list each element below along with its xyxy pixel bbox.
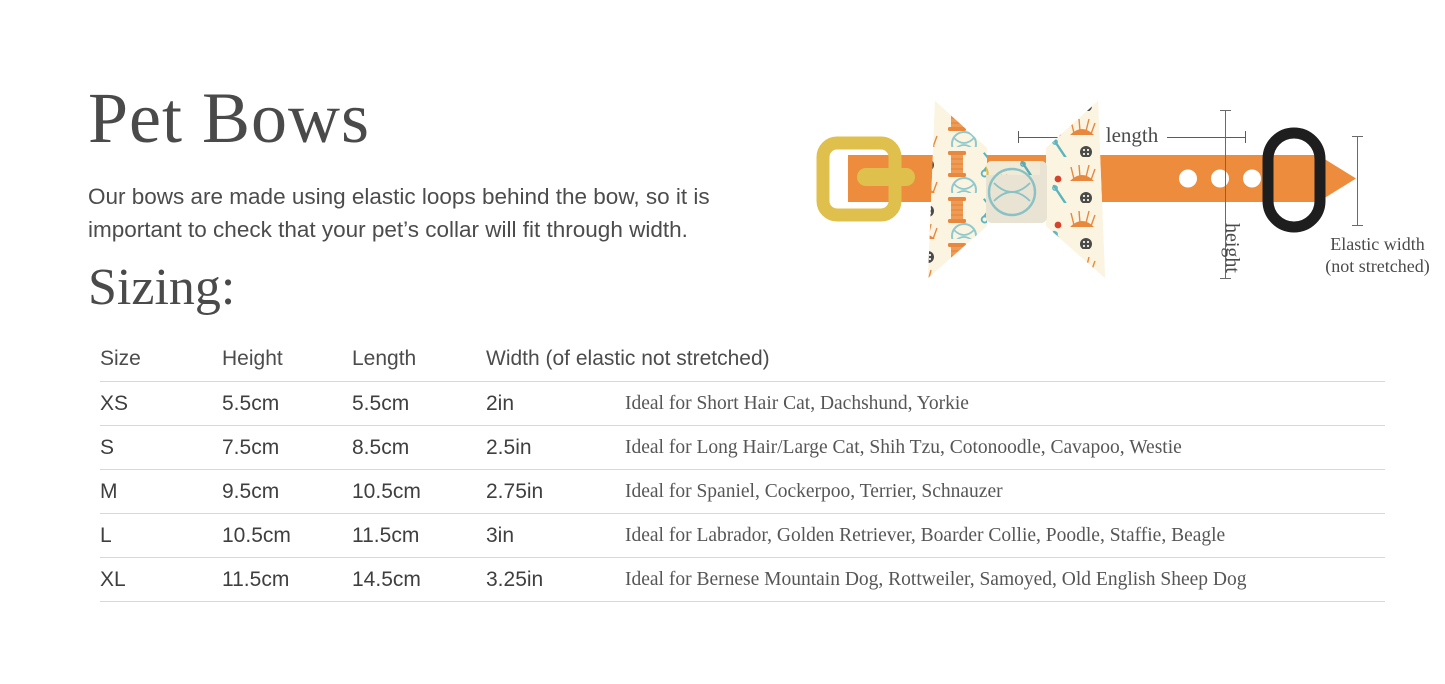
column-header-size: Size	[100, 342, 222, 382]
buckle-icon	[823, 143, 915, 215]
column-header-width: Width (of elastic not stretched)	[486, 342, 1385, 382]
cell-description: Ideal for Labrador, Golden Retriever, Bo…	[625, 514, 1385, 558]
height-dimension-marker: height	[1225, 105, 1285, 330]
cell-description: Ideal for Bernese Mountain Dog, Rottweil…	[625, 558, 1385, 602]
table-row: XL 11.5cm 14.5cm 3.25in Ideal for Bernes…	[100, 558, 1385, 602]
cell-width: 2in	[486, 382, 625, 426]
cell-length: 14.5cm	[352, 558, 486, 602]
cell-height: 9.5cm	[222, 470, 352, 514]
cell-width: 3in	[486, 514, 625, 558]
cell-description: Ideal for Spaniel, Cockerpoo, Terrier, S…	[625, 470, 1385, 514]
cell-size: XL	[100, 558, 222, 602]
cell-length: 8.5cm	[352, 426, 486, 470]
product-diagram: length	[800, 55, 1445, 290]
cell-height: 11.5cm	[222, 558, 352, 602]
cell-height: 5.5cm	[222, 382, 352, 426]
sizing-table: Size Height Length Width (of elastic not…	[100, 342, 1385, 602]
cell-size: M	[100, 470, 222, 514]
cell-size: L	[100, 514, 222, 558]
table-row: L 10.5cm 11.5cm 3in Ideal for Labrador, …	[100, 514, 1385, 558]
elastic-width-dimension-marker	[1352, 133, 1364, 228]
elastic-cap-top-icon	[1352, 136, 1363, 137]
elastic-line-icon	[1357, 136, 1358, 225]
table-header-row: Size Height Length Width (of elastic not…	[100, 342, 1385, 382]
cell-length: 11.5cm	[352, 514, 486, 558]
cell-description: Ideal for Long Hair/Large Cat, Shih Tzu,…	[625, 426, 1385, 470]
column-header-height: Height	[222, 342, 352, 382]
elastic-width-label: Elastic width (not stretched)	[1305, 233, 1445, 277]
table-row: XS 5.5cm 5.5cm 2in Ideal for Short Hair …	[100, 382, 1385, 426]
size-guide-page: Pet Bows Our bows are made using elastic…	[0, 0, 1445, 684]
cell-height: 7.5cm	[222, 426, 352, 470]
column-header-length: Length	[352, 342, 486, 382]
collar-hole-icon	[1179, 170, 1197, 188]
table-row: M 9.5cm 10.5cm 2.75in Ideal for Spaniel,…	[100, 470, 1385, 514]
height-cap-bottom-icon	[1220, 278, 1231, 279]
elastic-width-label-line2: (not stretched)	[1305, 255, 1445, 277]
elastic-width-label-line1: Elastic width	[1305, 233, 1445, 255]
intro-paragraph: Our bows are made using elastic loops be…	[88, 180, 793, 246]
sizing-heading: Sizing:	[88, 262, 235, 314]
cell-size: XS	[100, 382, 222, 426]
cell-width: 3.25in	[486, 558, 625, 602]
cell-size: S	[100, 426, 222, 470]
table-row: S 7.5cm 8.5cm 2.5in Ideal for Long Hair/…	[100, 426, 1385, 470]
page-title: Pet Bows	[88, 82, 370, 154]
cell-height: 10.5cm	[222, 514, 352, 558]
height-dimension-label: height	[1220, 223, 1243, 273]
cell-length: 5.5cm	[352, 382, 486, 426]
cell-width: 2.75in	[486, 470, 625, 514]
cell-description: Ideal for Short Hair Cat, Dachshund, Yor…	[625, 382, 1385, 426]
elastic-cap-bottom-icon	[1352, 225, 1363, 226]
cell-width: 2.5in	[486, 426, 625, 470]
height-cap-top-icon	[1220, 110, 1231, 111]
cell-length: 10.5cm	[352, 470, 486, 514]
